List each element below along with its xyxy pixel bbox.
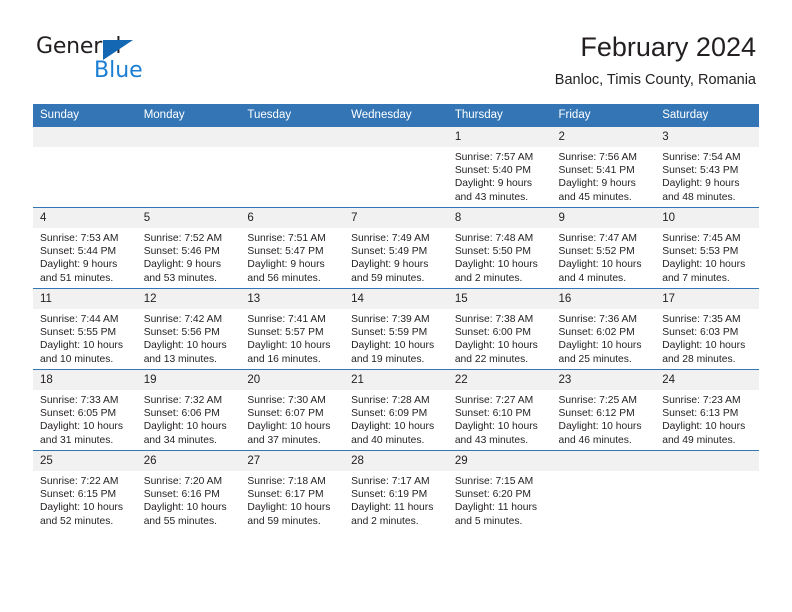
sunset-text: Sunset: 5:46 PM — [144, 245, 235, 258]
sunrise-text: Sunrise: 7:45 AM — [662, 232, 753, 245]
daylight-text-line1: Daylight: 10 hours — [559, 420, 650, 433]
weekday-header-saturday: Saturday — [655, 104, 759, 127]
calendar-day-cell[interactable]: 26Sunrise: 7:20 AMSunset: 6:16 PMDayligh… — [137, 451, 241, 532]
daylight-text-line2: and 10 minutes. — [40, 353, 131, 366]
day-number: 21 — [344, 370, 448, 390]
calendar-empty-cell — [137, 127, 241, 208]
calendar-body: 1Sunrise: 7:57 AMSunset: 5:40 PMDaylight… — [33, 127, 759, 531]
calendar-day-cell[interactable]: 6Sunrise: 7:51 AMSunset: 5:47 PMDaylight… — [240, 208, 344, 289]
daylight-text-line1: Daylight: 10 hours — [40, 339, 131, 352]
day-number: 2 — [552, 127, 656, 147]
day-sun-info: Sunrise: 7:28 AMSunset: 6:09 PMDaylight:… — [344, 390, 448, 447]
day-sun-info: Sunrise: 7:35 AMSunset: 6:03 PMDaylight:… — [655, 309, 759, 366]
daylight-text-line2: and 48 minutes. — [662, 191, 753, 204]
day-number: 1 — [448, 127, 552, 147]
day-number: 9 — [552, 208, 656, 228]
weekday-header-thursday: Thursday — [448, 104, 552, 127]
day-number: 20 — [240, 370, 344, 390]
sunset-text: Sunset: 6:03 PM — [662, 326, 753, 339]
weekday-header-sunday: Sunday — [33, 104, 137, 127]
day-number: 10 — [655, 208, 759, 228]
sunrise-text: Sunrise: 7:17 AM — [351, 475, 442, 488]
calendar-day-cell[interactable]: 11Sunrise: 7:44 AMSunset: 5:55 PMDayligh… — [33, 289, 137, 370]
calendar-empty-cell — [240, 127, 344, 208]
page-title: February 2024 — [555, 30, 756, 64]
day-sun-info: Sunrise: 7:33 AMSunset: 6:05 PMDaylight:… — [33, 390, 137, 447]
sunrise-text: Sunrise: 7:22 AM — [40, 475, 131, 488]
sunset-text: Sunset: 5:43 PM — [662, 164, 753, 177]
daylight-text-line1: Daylight: 10 hours — [662, 420, 753, 433]
day-number: 25 — [33, 451, 137, 471]
day-sun-info: Sunrise: 7:49 AMSunset: 5:49 PMDaylight:… — [344, 228, 448, 285]
day-number: 14 — [344, 289, 448, 309]
sunset-text: Sunset: 6:06 PM — [144, 407, 235, 420]
daylight-text-line2: and 51 minutes. — [40, 272, 131, 285]
sunset-text: Sunset: 5:44 PM — [40, 245, 131, 258]
daylight-text-line2: and 34 minutes. — [144, 434, 235, 447]
day-sun-info: Sunrise: 7:41 AMSunset: 5:57 PMDaylight:… — [240, 309, 344, 366]
calendar-day-cell[interactable]: 13Sunrise: 7:41 AMSunset: 5:57 PMDayligh… — [240, 289, 344, 370]
sunset-text: Sunset: 5:40 PM — [455, 164, 546, 177]
daylight-text-line2: and 49 minutes. — [662, 434, 753, 447]
sunrise-text: Sunrise: 7:42 AM — [144, 313, 235, 326]
daylight-text-line1: Daylight: 10 hours — [144, 339, 235, 352]
day-number — [552, 451, 656, 471]
calendar-page: General Blue February 2024 Banloc, Timis… — [0, 0, 792, 612]
calendar-day-cell[interactable]: 14Sunrise: 7:39 AMSunset: 5:59 PMDayligh… — [344, 289, 448, 370]
daylight-text-line1: Daylight: 10 hours — [40, 420, 131, 433]
daylight-text-line2: and 43 minutes. — [455, 191, 546, 204]
title-block: February 2024 Banloc, Timis County, Roma… — [555, 30, 756, 90]
sunrise-text: Sunrise: 7:30 AM — [247, 394, 338, 407]
calendar-day-cell[interactable]: 12Sunrise: 7:42 AMSunset: 5:56 PMDayligh… — [137, 289, 241, 370]
sunrise-text: Sunrise: 7:33 AM — [40, 394, 131, 407]
daylight-text-line1: Daylight: 9 hours — [144, 258, 235, 271]
daylight-text-line1: Daylight: 10 hours — [247, 339, 338, 352]
sunset-text: Sunset: 5:47 PM — [247, 245, 338, 258]
sunrise-text: Sunrise: 7:49 AM — [351, 232, 442, 245]
calendar-week-row: 11Sunrise: 7:44 AMSunset: 5:55 PMDayligh… — [33, 289, 759, 370]
day-sun-info: Sunrise: 7:15 AMSunset: 6:20 PMDaylight:… — [448, 471, 552, 528]
daylight-text-line2: and 22 minutes. — [455, 353, 546, 366]
day-sun-info: Sunrise: 7:54 AMSunset: 5:43 PMDaylight:… — [655, 147, 759, 204]
logo-triangle-icon — [103, 40, 133, 60]
daylight-text-line1: Daylight: 10 hours — [662, 339, 753, 352]
daylight-text-line1: Daylight: 10 hours — [247, 420, 338, 433]
daylight-text-line1: Daylight: 10 hours — [144, 420, 235, 433]
day-sun-info: Sunrise: 7:51 AMSunset: 5:47 PMDaylight:… — [240, 228, 344, 285]
day-number — [240, 127, 344, 147]
day-number: 27 — [240, 451, 344, 471]
sunrise-text: Sunrise: 7:41 AM — [247, 313, 338, 326]
daylight-text-line1: Daylight: 10 hours — [351, 339, 442, 352]
daylight-text-line2: and 13 minutes. — [144, 353, 235, 366]
day-number: 7 — [344, 208, 448, 228]
day-number: 13 — [240, 289, 344, 309]
daylight-text-line1: Daylight: 10 hours — [559, 258, 650, 271]
daylight-text-line2: and 43 minutes. — [455, 434, 546, 447]
calendar-day-cell[interactable]: 1Sunrise: 7:57 AMSunset: 5:40 PMDaylight… — [448, 127, 552, 208]
daylight-text-line1: Daylight: 9 hours — [247, 258, 338, 271]
daylight-text-line1: Daylight: 10 hours — [662, 258, 753, 271]
sunrise-text: Sunrise: 7:53 AM — [40, 232, 131, 245]
daylight-text-line2: and 46 minutes. — [559, 434, 650, 447]
day-sun-info: Sunrise: 7:53 AMSunset: 5:44 PMDaylight:… — [33, 228, 137, 285]
daylight-text-line1: Daylight: 10 hours — [144, 501, 235, 514]
daylight-text-line1: Daylight: 10 hours — [559, 339, 650, 352]
daylight-text-line2: and 53 minutes. — [144, 272, 235, 285]
day-number: 6 — [240, 208, 344, 228]
day-number: 15 — [448, 289, 552, 309]
day-number: 11 — [33, 289, 137, 309]
daylight-text-line1: Daylight: 10 hours — [351, 420, 442, 433]
daylight-text-line2: and 16 minutes. — [247, 353, 338, 366]
calendar-grid: Sunday Monday Tuesday Wednesday Thursday… — [33, 104, 759, 531]
calendar-day-cell[interactable]: 29Sunrise: 7:15 AMSunset: 6:20 PMDayligh… — [448, 451, 552, 532]
day-number — [655, 451, 759, 471]
calendar-day-cell[interactable]: 10Sunrise: 7:45 AMSunset: 5:53 PMDayligh… — [655, 208, 759, 289]
daylight-text-line1: Daylight: 11 hours — [351, 501, 442, 514]
sunrise-text: Sunrise: 7:44 AM — [40, 313, 131, 326]
calendar-day-cell[interactable]: 3Sunrise: 7:54 AMSunset: 5:43 PMDaylight… — [655, 127, 759, 208]
sunrise-text: Sunrise: 7:47 AM — [559, 232, 650, 245]
daylight-text-line2: and 40 minutes. — [351, 434, 442, 447]
day-number: 24 — [655, 370, 759, 390]
sunrise-text: Sunrise: 7:28 AM — [351, 394, 442, 407]
day-sun-info: Sunrise: 7:56 AMSunset: 5:41 PMDaylight:… — [552, 147, 656, 204]
sunset-text: Sunset: 5:55 PM — [40, 326, 131, 339]
day-number: 26 — [137, 451, 241, 471]
calendar-week-row: 1Sunrise: 7:57 AMSunset: 5:40 PMDaylight… — [33, 127, 759, 208]
sunset-text: Sunset: 6:17 PM — [247, 488, 338, 501]
sunrise-text: Sunrise: 7:52 AM — [144, 232, 235, 245]
daylight-text-line2: and 59 minutes. — [351, 272, 442, 285]
calendar-day-cell[interactable]: 28Sunrise: 7:17 AMSunset: 6:19 PMDayligh… — [344, 451, 448, 532]
calendar-day-cell[interactable]: 22Sunrise: 7:27 AMSunset: 6:10 PMDayligh… — [448, 370, 552, 451]
daylight-text-line2: and 5 minutes. — [455, 515, 546, 528]
weekday-header-friday: Friday — [552, 104, 656, 127]
calendar-day-cell[interactable]: 16Sunrise: 7:36 AMSunset: 6:02 PMDayligh… — [552, 289, 656, 370]
day-number: 4 — [33, 208, 137, 228]
calendar-day-cell[interactable]: 21Sunrise: 7:28 AMSunset: 6:09 PMDayligh… — [344, 370, 448, 451]
calendar-day-cell[interactable]: 9Sunrise: 7:47 AMSunset: 5:52 PMDaylight… — [552, 208, 656, 289]
calendar-day-cell[interactable]: 7Sunrise: 7:49 AMSunset: 5:49 PMDaylight… — [344, 208, 448, 289]
daylight-text-line1: Daylight: 10 hours — [455, 420, 546, 433]
daylight-text-line2: and 59 minutes. — [247, 515, 338, 528]
calendar-empty-cell — [655, 451, 759, 532]
day-number — [137, 127, 241, 147]
sunrise-text: Sunrise: 7:36 AM — [559, 313, 650, 326]
page-subtitle: Banloc, Timis County, Romania — [555, 70, 756, 90]
day-number: 17 — [655, 289, 759, 309]
sunset-text: Sunset: 5:50 PM — [455, 245, 546, 258]
calendar-week-row: 4Sunrise: 7:53 AMSunset: 5:44 PMDaylight… — [33, 208, 759, 289]
weekday-header-wednesday: Wednesday — [344, 104, 448, 127]
daylight-text-line1: Daylight: 10 hours — [455, 258, 546, 271]
sunset-text: Sunset: 6:13 PM — [662, 407, 753, 420]
day-number: 22 — [448, 370, 552, 390]
daylight-text-line2: and 4 minutes. — [559, 272, 650, 285]
logo-text-blue: Blue — [94, 58, 143, 83]
day-sun-info: Sunrise: 7:25 AMSunset: 6:12 PMDaylight:… — [552, 390, 656, 447]
daylight-text-line1: Daylight: 9 hours — [559, 177, 650, 190]
day-sun-info: Sunrise: 7:44 AMSunset: 5:55 PMDaylight:… — [33, 309, 137, 366]
day-sun-info: Sunrise: 7:48 AMSunset: 5:50 PMDaylight:… — [448, 228, 552, 285]
day-sun-info: Sunrise: 7:47 AMSunset: 5:52 PMDaylight:… — [552, 228, 656, 285]
sunrise-text: Sunrise: 7:35 AM — [662, 313, 753, 326]
day-sun-info: Sunrise: 7:20 AMSunset: 6:16 PMDaylight:… — [137, 471, 241, 528]
day-sun-info: Sunrise: 7:30 AMSunset: 6:07 PMDaylight:… — [240, 390, 344, 447]
sunset-text: Sunset: 5:56 PM — [144, 326, 235, 339]
daylight-text-line1: Daylight: 10 hours — [455, 339, 546, 352]
sunrise-text: Sunrise: 7:39 AM — [351, 313, 442, 326]
calendar-day-cell[interactable]: 5Sunrise: 7:52 AMSunset: 5:46 PMDaylight… — [137, 208, 241, 289]
weekday-header-row: Sunday Monday Tuesday Wednesday Thursday… — [33, 104, 759, 127]
sunset-text: Sunset: 5:41 PM — [559, 164, 650, 177]
sunset-text: Sunset: 6:20 PM — [455, 488, 546, 501]
sunrise-text: Sunrise: 7:57 AM — [455, 151, 546, 164]
daylight-text-line1: Daylight: 9 hours — [455, 177, 546, 190]
sunset-text: Sunset: 6:19 PM — [351, 488, 442, 501]
calendar-week-row: 25Sunrise: 7:22 AMSunset: 6:15 PMDayligh… — [33, 451, 759, 532]
calendar-day-cell[interactable]: 2Sunrise: 7:56 AMSunset: 5:41 PMDaylight… — [552, 127, 656, 208]
day-sun-info: Sunrise: 7:17 AMSunset: 6:19 PMDaylight:… — [344, 471, 448, 528]
day-sun-info: Sunrise: 7:42 AMSunset: 5:56 PMDaylight:… — [137, 309, 241, 366]
daylight-text-line2: and 45 minutes. — [559, 191, 650, 204]
day-number: 29 — [448, 451, 552, 471]
calendar-day-cell[interactable]: 4Sunrise: 7:53 AMSunset: 5:44 PMDaylight… — [33, 208, 137, 289]
weekday-header-tuesday: Tuesday — [240, 104, 344, 127]
sunrise-text: Sunrise: 7:32 AM — [144, 394, 235, 407]
day-number: 18 — [33, 370, 137, 390]
daylight-text-line2: and 19 minutes. — [351, 353, 442, 366]
sunrise-text: Sunrise: 7:15 AM — [455, 475, 546, 488]
calendar-day-cell[interactable]: 20Sunrise: 7:30 AMSunset: 6:07 PMDayligh… — [240, 370, 344, 451]
day-sun-info: Sunrise: 7:57 AMSunset: 5:40 PMDaylight:… — [448, 147, 552, 204]
day-sun-info: Sunrise: 7:45 AMSunset: 5:53 PMDaylight:… — [655, 228, 759, 285]
daylight-text-line2: and 52 minutes. — [40, 515, 131, 528]
calendar-week-row: 18Sunrise: 7:33 AMSunset: 6:05 PMDayligh… — [33, 370, 759, 451]
sunrise-text: Sunrise: 7:54 AM — [662, 151, 753, 164]
daylight-text-line1: Daylight: 9 hours — [351, 258, 442, 271]
daylight-text-line2: and 2 minutes. — [351, 515, 442, 528]
sunset-text: Sunset: 6:15 PM — [40, 488, 131, 501]
day-number: 8 — [448, 208, 552, 228]
sunset-text: Sunset: 6:10 PM — [455, 407, 546, 420]
day-number: 3 — [655, 127, 759, 147]
sunset-text: Sunset: 6:12 PM — [559, 407, 650, 420]
sunset-text: Sunset: 5:49 PM — [351, 245, 442, 258]
calendar-day-cell[interactable]: 17Sunrise: 7:35 AMSunset: 6:03 PMDayligh… — [655, 289, 759, 370]
day-number: 19 — [137, 370, 241, 390]
calendar-day-cell[interactable]: 18Sunrise: 7:33 AMSunset: 6:05 PMDayligh… — [33, 370, 137, 451]
sunset-text: Sunset: 5:53 PM — [662, 245, 753, 258]
sunrise-text: Sunrise: 7:27 AM — [455, 394, 546, 407]
day-number: 12 — [137, 289, 241, 309]
sunset-text: Sunset: 6:00 PM — [455, 326, 546, 339]
sunrise-text: Sunrise: 7:56 AM — [559, 151, 650, 164]
day-number: 16 — [552, 289, 656, 309]
calendar-empty-cell — [344, 127, 448, 208]
sunrise-text: Sunrise: 7:25 AM — [559, 394, 650, 407]
sunset-text: Sunset: 6:07 PM — [247, 407, 338, 420]
daylight-text-line2: and 25 minutes. — [559, 353, 650, 366]
day-number: 28 — [344, 451, 448, 471]
sunset-text: Sunset: 6:05 PM — [40, 407, 131, 420]
calendar-day-cell[interactable]: 19Sunrise: 7:32 AMSunset: 6:06 PMDayligh… — [137, 370, 241, 451]
daylight-text-line1: Daylight: 11 hours — [455, 501, 546, 514]
sunrise-text: Sunrise: 7:38 AM — [455, 313, 546, 326]
calendar-day-cell[interactable]: 8Sunrise: 7:48 AMSunset: 5:50 PMDaylight… — [448, 208, 552, 289]
day-sun-info: Sunrise: 7:39 AMSunset: 5:59 PMDaylight:… — [344, 309, 448, 366]
general-blue-logo[interactable]: General Blue — [36, 34, 206, 90]
day-sun-info: Sunrise: 7:32 AMSunset: 6:06 PMDaylight:… — [137, 390, 241, 447]
calendar-day-cell[interactable]: 15Sunrise: 7:38 AMSunset: 6:00 PMDayligh… — [448, 289, 552, 370]
sunset-text: Sunset: 6:02 PM — [559, 326, 650, 339]
sunset-text: Sunset: 5:59 PM — [351, 326, 442, 339]
calendar-day-cell[interactable]: 23Sunrise: 7:25 AMSunset: 6:12 PMDayligh… — [552, 370, 656, 451]
daylight-text-line1: Daylight: 10 hours — [40, 501, 131, 514]
calendar-empty-cell — [552, 451, 656, 532]
sunrise-text: Sunrise: 7:51 AM — [247, 232, 338, 245]
sunrise-text: Sunrise: 7:23 AM — [662, 394, 753, 407]
sunset-text: Sunset: 5:52 PM — [559, 245, 650, 258]
daylight-text-line2: and 56 minutes. — [247, 272, 338, 285]
sunset-text: Sunset: 5:57 PM — [247, 326, 338, 339]
daylight-text-line2: and 7 minutes. — [662, 272, 753, 285]
day-sun-info: Sunrise: 7:38 AMSunset: 6:00 PMDaylight:… — [448, 309, 552, 366]
daylight-text-line1: Daylight: 9 hours — [662, 177, 753, 190]
calendar-day-cell[interactable]: 27Sunrise: 7:18 AMSunset: 6:17 PMDayligh… — [240, 451, 344, 532]
sunset-text: Sunset: 6:09 PM — [351, 407, 442, 420]
day-sun-info: Sunrise: 7:52 AMSunset: 5:46 PMDaylight:… — [137, 228, 241, 285]
day-sun-info: Sunrise: 7:23 AMSunset: 6:13 PMDaylight:… — [655, 390, 759, 447]
calendar-empty-cell — [33, 127, 137, 208]
daylight-text-line1: Daylight: 10 hours — [247, 501, 338, 514]
calendar-day-cell[interactable]: 25Sunrise: 7:22 AMSunset: 6:15 PMDayligh… — [33, 451, 137, 532]
sunrise-text: Sunrise: 7:48 AM — [455, 232, 546, 245]
sunset-text: Sunset: 6:16 PM — [144, 488, 235, 501]
day-number: 23 — [552, 370, 656, 390]
daylight-text-line2: and 2 minutes. — [455, 272, 546, 285]
page-header: General Blue February 2024 Banloc, Timis… — [0, 0, 792, 100]
day-number: 5 — [137, 208, 241, 228]
day-sun-info: Sunrise: 7:22 AMSunset: 6:15 PMDaylight:… — [33, 471, 137, 528]
day-sun-info: Sunrise: 7:18 AMSunset: 6:17 PMDaylight:… — [240, 471, 344, 528]
daylight-text-line2: and 28 minutes. — [662, 353, 753, 366]
day-sun-info: Sunrise: 7:27 AMSunset: 6:10 PMDaylight:… — [448, 390, 552, 447]
sunrise-text: Sunrise: 7:18 AM — [247, 475, 338, 488]
daylight-text-line2: and 55 minutes. — [144, 515, 235, 528]
daylight-text-line2: and 31 minutes. — [40, 434, 131, 447]
day-number — [33, 127, 137, 147]
day-sun-info: Sunrise: 7:36 AMSunset: 6:02 PMDaylight:… — [552, 309, 656, 366]
calendar-day-cell[interactable]: 24Sunrise: 7:23 AMSunset: 6:13 PMDayligh… — [655, 370, 759, 451]
weekday-header-monday: Monday — [137, 104, 241, 127]
day-number — [344, 127, 448, 147]
daylight-text-line1: Daylight: 9 hours — [40, 258, 131, 271]
sunrise-text: Sunrise: 7:20 AM — [144, 475, 235, 488]
daylight-text-line2: and 37 minutes. — [247, 434, 338, 447]
